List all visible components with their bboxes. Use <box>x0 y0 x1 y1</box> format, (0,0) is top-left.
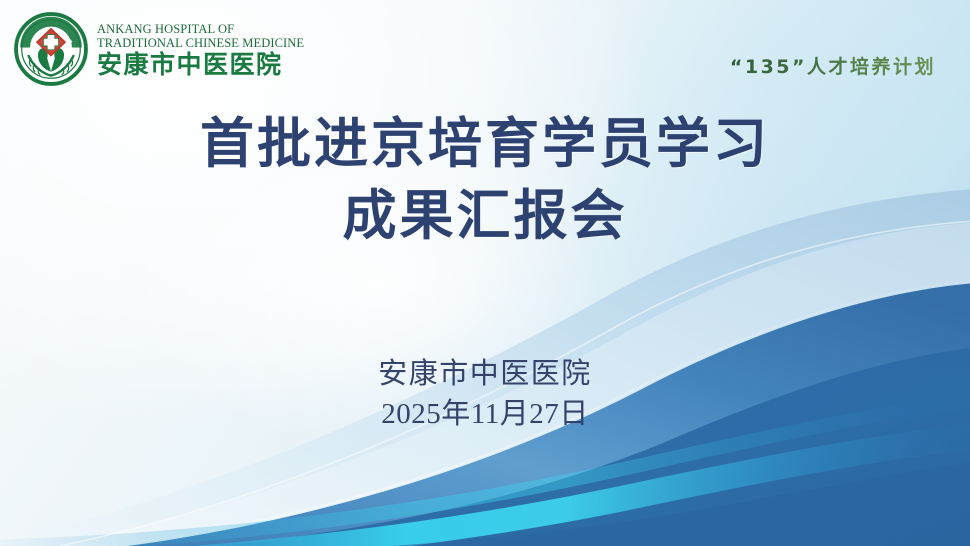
hospital-logo: ANKANG HOSPITAL OF TRADITIONAL CHINESE M… <box>13 11 304 87</box>
logo-chinese-name: 安康市中医医院 <box>97 51 304 79</box>
subtitle-date: 2025年11月27日 <box>0 394 970 434</box>
ankang-hospital-emblem-icon <box>13 11 89 87</box>
slide-title-line-1: 首批进京培育学员学习 <box>0 108 970 180</box>
logo-wordmark: ANKANG HOSPITAL OF TRADITIONAL CHINESE M… <box>97 20 304 79</box>
presentation-title-slide: ANKANG HOSPITAL OF TRADITIONAL CHINESE M… <box>0 0 970 546</box>
slide-subtitle: 安康市中医医院 2025年11月27日 <box>0 354 970 434</box>
logo-english-line-1: ANKANG HOSPITAL OF <box>97 22 304 36</box>
slide-title-line-2: 成果汇报会 <box>0 180 970 252</box>
slide-title: 首批进京培育学员学习 成果汇报会 <box>0 108 970 253</box>
logo-english-line-2: TRADITIONAL CHINESE MEDICINE <box>97 36 304 50</box>
program-tag: “135”人才培养计划 <box>730 52 936 79</box>
subtitle-organization: 安康市中医医院 <box>0 354 970 394</box>
